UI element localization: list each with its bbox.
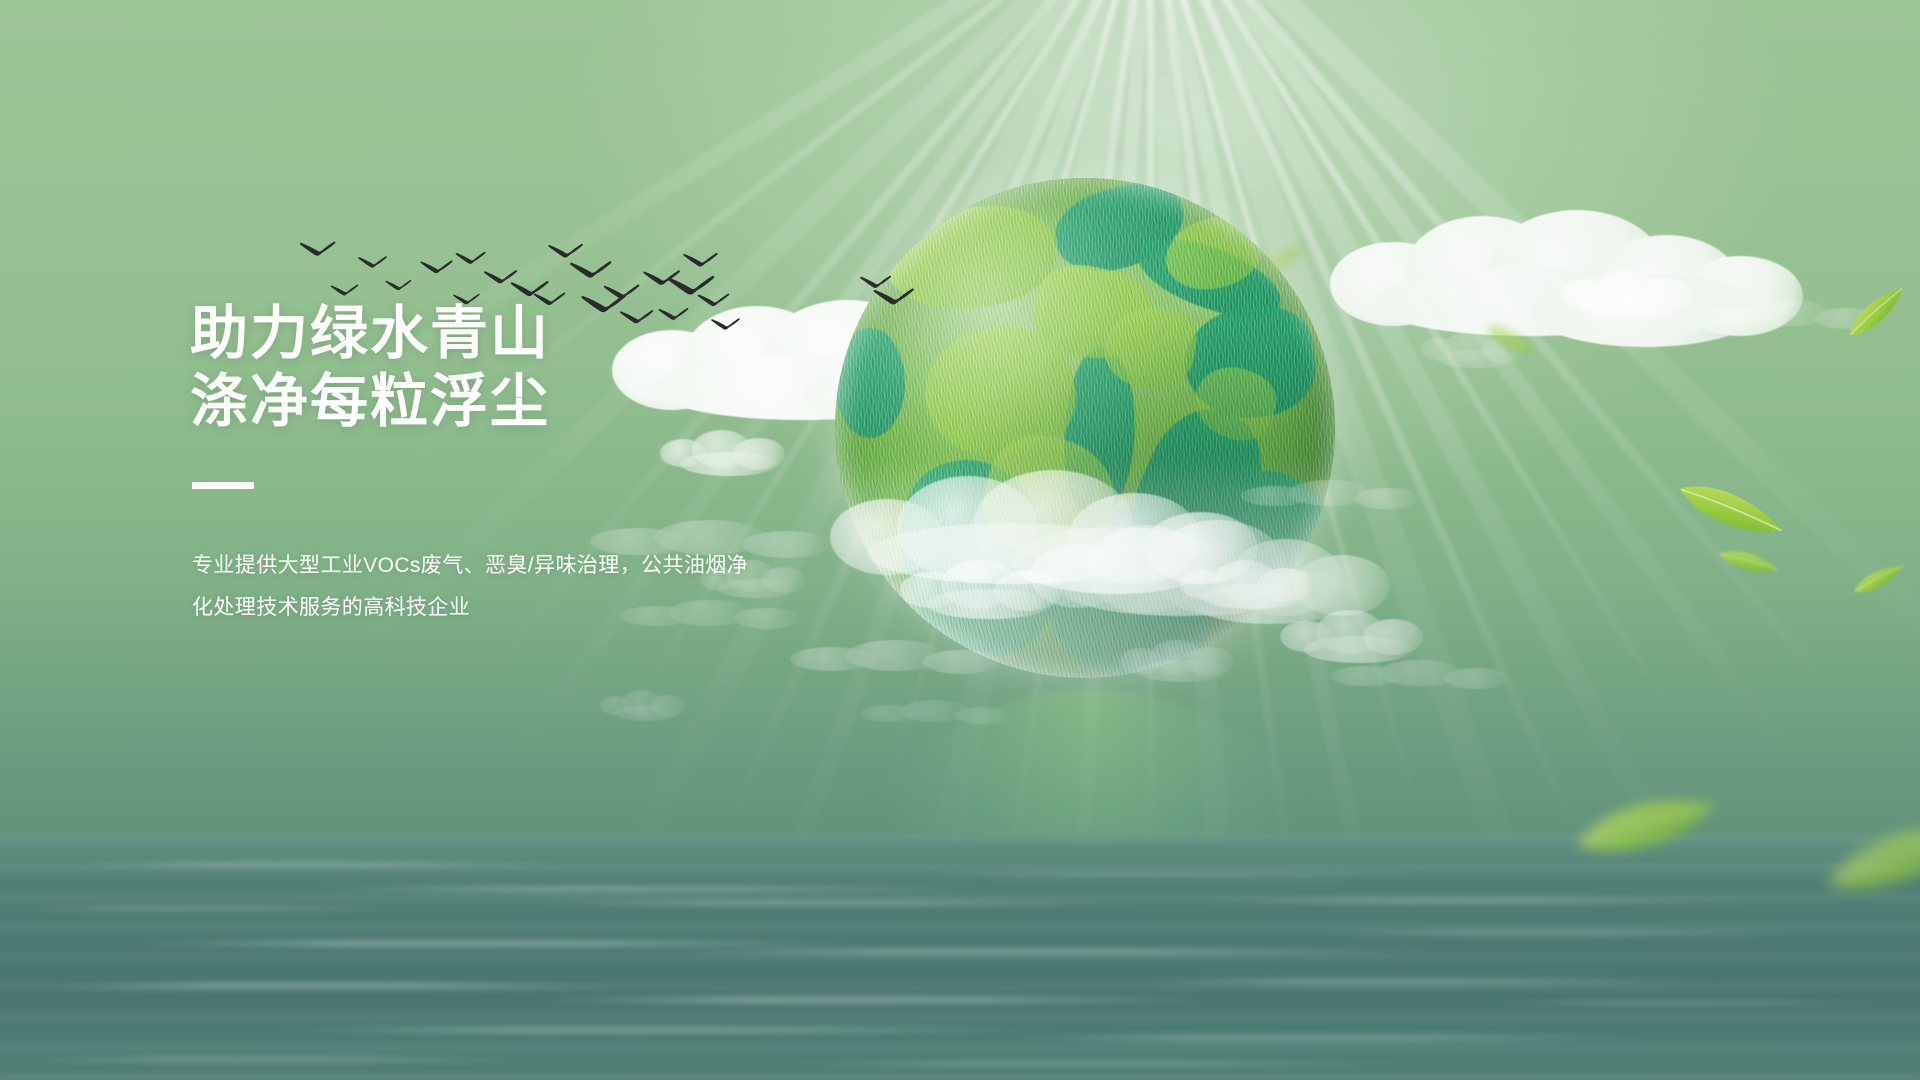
water-ripple [120,940,880,947]
water-ripple [0,906,420,911]
cloud [1120,640,1121,641]
water-ripple [1480,1000,1900,1006]
cloud-puff [923,650,1000,674]
cloud [1240,480,1241,481]
banner-description: 专业提供大型工业VOCs废气、恶臭/异味治理，公共油烟净 化处理技术服务的高科技… [192,545,830,629]
cloud-puff [1581,294,1686,319]
water-ripple [300,886,1000,892]
water-ripple [1300,930,1820,936]
cloud [1420,330,1421,331]
description-line-1: 专业提供大型工业VOCs废气、恶臭/异味治理，公共油烟净 [192,545,830,587]
cloud-puff [1303,636,1416,663]
water-ripple [520,900,1160,906]
water-sheen [0,830,1920,1080]
cloud-puff [1201,584,1306,609]
cloud-puff [1138,660,1228,682]
cloud [1180,560,1181,561]
cloud [1330,660,1331,661]
cloud [1560,270,1561,271]
cloud [600,690,601,691]
water-ripple [0,1056,560,1063]
water-ripple [40,982,640,989]
water-ripple [520,996,1240,1004]
cloud-puff [1444,668,1510,688]
banner-copy: 助力绿水青山 涤净每粒浮尘 专业提供大型工业VOCs废气、恶臭/异味治理，公共油… [190,300,830,629]
accent-divider [192,482,254,489]
cloud [830,470,831,471]
description-line-2: 化处理技术服务的高科技企业 [192,587,830,629]
water-ripple [1180,898,1780,904]
cloud-puff [1354,488,1420,508]
cloud [900,560,901,561]
water-ripple [260,1026,1080,1034]
cloud [1030,520,1031,521]
water-ripple [900,872,1460,877]
water-ripple [980,1034,1680,1042]
cloud-puff [955,707,1010,724]
water-ripple [760,1060,1440,1067]
cloud [1280,610,1281,611]
cloud [1700,300,1701,301]
headline-line-2: 涤净每粒浮尘 [190,368,830,436]
cloud [790,640,791,641]
cloud [860,700,861,701]
water-ripple [60,862,580,867]
headline-line-1: 助力绿水青山 [190,300,830,368]
page-title: 助力绿水青山 涤净每粒浮尘 [190,300,830,436]
water-ripple [640,948,1460,955]
hero-banner: 助力绿水青山 涤净每粒浮尘 专业提供大型工业VOCs废气、恶臭/异味治理，公共油… [0,0,1920,1080]
water-ripple [1100,978,1740,985]
